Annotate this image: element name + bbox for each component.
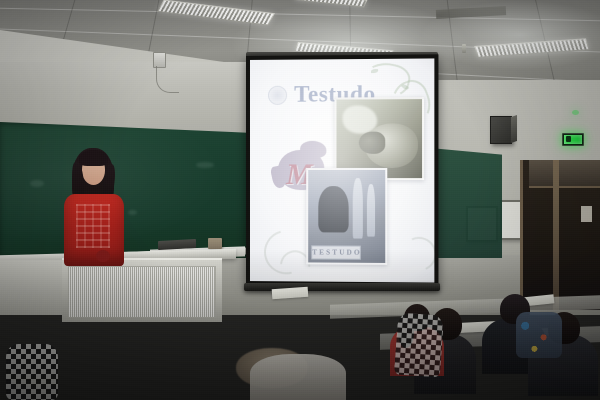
audience-member-jacket (250, 354, 346, 400)
backpack (516, 312, 562, 358)
green-indicator-light (572, 110, 579, 115)
presentation-slide: Testudo M (250, 58, 434, 282)
presenter (62, 146, 126, 264)
desk-box (208, 238, 222, 249)
wall-speaker (490, 116, 512, 144)
lectern-side (0, 260, 66, 315)
testudo-statue-photo: TESTUDO (306, 168, 387, 265)
exit-sign (562, 133, 584, 146)
classroom-photo: Testudo M (0, 0, 600, 400)
chalkboard-right (430, 148, 502, 258)
checkered-scarf (394, 312, 444, 377)
cable (156, 66, 179, 93)
wall-upper (0, 62, 250, 132)
photo-caption: TESTUDO (311, 245, 361, 259)
lectern (62, 258, 222, 322)
doorway (520, 160, 600, 310)
sprinkler-head (462, 44, 466, 53)
door-notice (581, 206, 592, 222)
checkered-scarf (6, 344, 58, 400)
projection-screen: Testudo M (246, 54, 438, 286)
seal-icon (268, 86, 287, 105)
